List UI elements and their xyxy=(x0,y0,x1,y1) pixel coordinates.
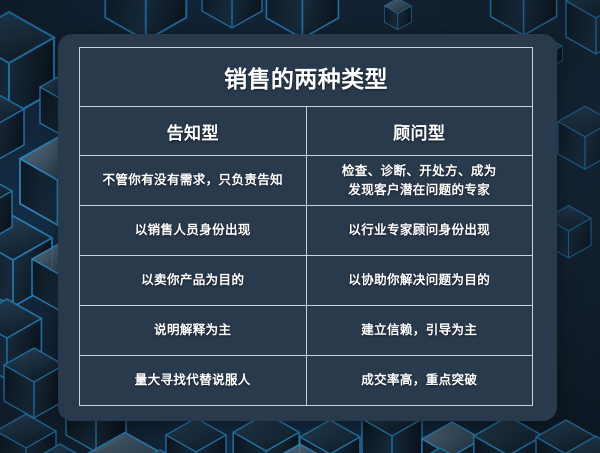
table-row: 以卖你产品为目的 以协助你解决问题为目的 xyxy=(80,256,533,306)
table-title: 销售的两种类型 xyxy=(80,48,533,107)
table-title-row: 销售的两种类型 xyxy=(80,48,533,107)
cell-right-1-line1: 检查、诊断、开处方、成为 xyxy=(342,164,497,178)
cell-left-3: 以卖你产品为目的 xyxy=(80,256,307,306)
cell-right-1: 检查、诊断、开处方、成为 发现客户潜在问题的专家 xyxy=(306,156,533,206)
table-row: 量大寻找代替说服人 成交率高，重点突破 xyxy=(80,356,533,406)
cell-right-4: 建立信赖，引导为主 xyxy=(306,306,533,356)
cell-right-1-line2: 发现客户潜在问题的专家 xyxy=(348,183,490,197)
cell-right-2: 以行业专家顾问身份出现 xyxy=(306,206,533,256)
cell-left-5: 量大寻找代替说服人 xyxy=(80,356,307,406)
table-header-row: 告知型 顾问型 xyxy=(80,107,533,156)
column-header-left: 告知型 xyxy=(80,107,307,156)
cell-left-1: 不管你有没有需求，只负责告知 xyxy=(80,156,307,206)
slide-canvas: 销售的两种类型 告知型 顾问型 不管你有没有需求，只负责告知 检查、诊断、开处方… xyxy=(0,0,600,453)
sales-types-table: 销售的两种类型 告知型 顾问型 不管你有没有需求，只负责告知 检查、诊断、开处方… xyxy=(79,47,533,406)
table-row: 以销售人员身份出现 以行业专家顾问身份出现 xyxy=(80,206,533,256)
table-row: 说明解释为主 建立信赖，引导为主 xyxy=(80,306,533,356)
column-header-right: 顾问型 xyxy=(306,107,533,156)
cell-right-3: 以协助你解决问题为目的 xyxy=(306,256,533,306)
cell-right-5: 成交率高，重点突破 xyxy=(306,356,533,406)
cell-left-2: 以销售人员身份出现 xyxy=(80,206,307,256)
table-row: 不管你有没有需求，只负责告知 检查、诊断、开处方、成为 发现客户潜在问题的专家 xyxy=(80,156,533,206)
cell-left-4: 说明解释为主 xyxy=(80,306,307,356)
